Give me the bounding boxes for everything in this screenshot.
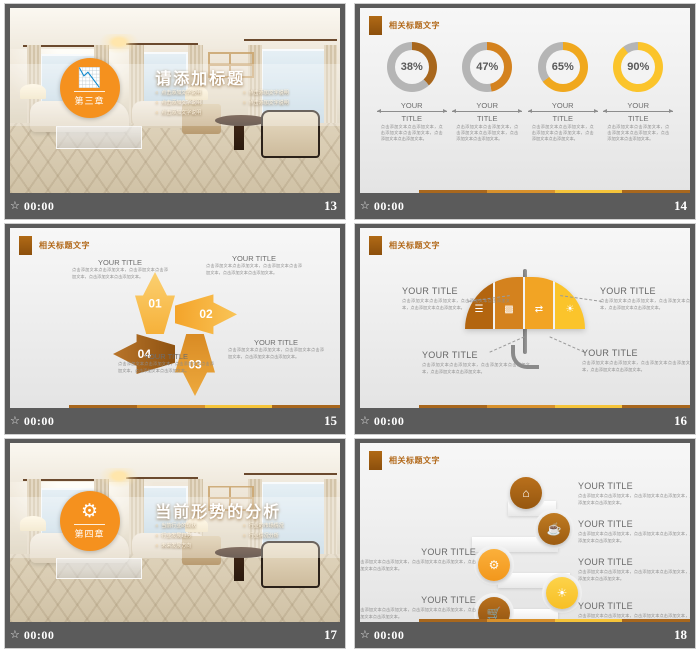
donut-value: 38% xyxy=(387,42,437,92)
slide-card-17[interactable]: ⚙ 第四章 当前形势的分析 当前行业的现状 行业的市场情况 行业发展趋势 行业情… xyxy=(4,438,346,649)
slide-footer: ☆ 00:00 18 xyxy=(355,622,695,648)
caption-line-1: YOUR xyxy=(377,101,447,110)
label-title: YOUR TITLE xyxy=(422,350,530,360)
duration-text: 00:00 xyxy=(374,628,405,643)
label-body: 点击添加文本点击添加文本，点击添加文本点击添加文本，点击添加文本点击添加文本。 xyxy=(206,263,302,276)
page-title: 请添加标题 xyxy=(155,65,245,89)
label-body: 点击添加文本点击添加文本，点击添加文本点击添加文本，点击添加文本点击添加文本。 xyxy=(578,493,690,506)
header-title: 相关标题文字 xyxy=(389,240,440,251)
pinwheel-label-04: YOUR TITLE 点击添加文本点击添加文本，点击添加文本点击添加文本，点击添… xyxy=(228,338,324,360)
duration-text: 00:00 xyxy=(374,199,405,214)
donut-item: 90% YOUR TITLE 点击添加文本点击添加文本，点击添加文本点击添加文本… xyxy=(603,42,673,143)
pinwheel-label-03: YOUR TITLE 点击添加文本点击添加文本，点击添加文本点击添加文本，点击添… xyxy=(118,352,214,374)
caption-line-1: YOUR xyxy=(452,101,522,110)
slide-canvas-14[interactable]: 相关标题文字 38% YOUR TITLE 点击添加文本点击添加文本，点击添加文… xyxy=(360,8,690,193)
caption-rule-icon xyxy=(452,111,522,112)
slide-cell-18: 相关标题文字 ⌂ ☕ ⚙ xyxy=(350,435,700,649)
flow-node-parachute[interactable]: ☕ xyxy=(538,513,570,545)
header-title: 相关标题文字 xyxy=(39,240,90,251)
donut-value: 90% xyxy=(613,42,663,92)
bottom-accent-bar xyxy=(360,405,690,408)
caption-line-1: YOUR xyxy=(528,101,598,110)
label-body: 点击添加文本点击添加文本，点击添加文本点击添加文本，点击添加文本点击添加文本。 xyxy=(582,360,690,373)
label-body: 点击添加文本点击添加文本，点击添加文本点击添加文本，点击添加文本点击添加文本。 xyxy=(402,298,510,311)
header-marker-icon xyxy=(369,236,382,255)
umbrella-panel-3: ⇄ xyxy=(525,277,555,329)
label-title: YOUR TITLE xyxy=(360,547,476,557)
page-title: 当前形势的分析 xyxy=(155,498,281,522)
caption-rule-icon xyxy=(377,111,447,112)
flow-node-lightbulb[interactable]: ☀ xyxy=(546,577,578,609)
list-item: 点击添加文字说明 xyxy=(243,89,321,96)
list-item: 当前行业的现状 xyxy=(155,522,233,529)
duration-text: 00:00 xyxy=(24,628,55,643)
chapter-badge: 📉 第三章 xyxy=(60,58,120,118)
duration-text: 00:00 xyxy=(24,414,55,429)
sun-gear-icon: ☀ xyxy=(566,305,575,315)
label-title: YOUR TITLE xyxy=(118,352,214,361)
donut-item: 38% YOUR TITLE 点击添加文本点击添加文本，点击添加文本点击添加文本… xyxy=(377,42,447,143)
list-item: 点击添加文字说明 xyxy=(155,109,233,116)
flow-node-home[interactable]: ⌂ xyxy=(510,477,542,509)
star-outline-icon[interactable]: ☆ xyxy=(360,416,370,427)
umbrella-panel-4: ☀ xyxy=(555,277,585,329)
donut-body: 点击添加文本点击添加文本，点击添加文本点击添加文本，点击添加文本点击添加文本。 xyxy=(377,124,447,143)
label-title: YOUR TITLE xyxy=(402,286,510,296)
label-title: YOUR TITLE xyxy=(582,348,690,358)
slide-canvas-15[interactable]: 相关标题文字 01 02 03 04 xyxy=(10,228,340,408)
lightbulb-icon: ☀ xyxy=(557,586,568,600)
caption-line-2: TITLE xyxy=(603,114,673,123)
shopping-cart-icon: 🛒 xyxy=(487,606,502,620)
slide-canvas-16[interactable]: 相关标题文字 ☰ ▩ ⇄ xyxy=(360,228,690,408)
page-number: 16 xyxy=(674,413,687,429)
donut-caption: YOUR TITLE xyxy=(528,101,598,124)
blade-number: 01 xyxy=(148,296,161,310)
slide-footer: ☆ 00:00 14 xyxy=(355,193,695,219)
flow-label-2: YOUR TITLE 点击添加文本点击添加文本，点击添加文本点击添加文本，点击添… xyxy=(578,519,690,544)
label-body: 点击添加文本点击添加文本，点击添加文本点击添加文本，点击添加文本点击添加文本。 xyxy=(72,267,168,280)
header-title: 相关标题文字 xyxy=(389,455,440,466)
chapter-label: 第三章 xyxy=(74,91,104,107)
bullet-list: 点击添加文字说明 点击添加文字说明 点击添加文字说明 点击添加文字说明 点击添加… xyxy=(155,89,320,116)
donut-caption: YOUR TITLE xyxy=(603,101,673,124)
list-item: 点击添加文字说明 xyxy=(155,89,233,96)
star-outline-icon[interactable]: ☆ xyxy=(10,630,20,641)
slide-header: 相关标题文字 xyxy=(369,236,440,255)
umbrella-label-3: YOUR TITLE 点击添加文本点击添加文本，点击添加文本点击添加文本，点击添… xyxy=(422,350,530,375)
label-title: YOUR TITLE xyxy=(600,286,690,296)
chapter-badge: ⚙ 第四章 xyxy=(60,491,120,551)
umbrella-label-1: YOUR TITLE 点击添加文本点击添加文本，点击添加文本点击添加文本，点击添… xyxy=(402,286,510,311)
header-title: 相关标题文字 xyxy=(389,20,440,31)
donut-body: 点击添加文本点击添加文本，点击添加文本点击添加文本，点击添加文本点击添加文本。 xyxy=(603,124,673,143)
umbrella-label-2: YOUR TITLE 点击添加文本点击添加文本，点击添加文本点击添加文本，点击添… xyxy=(600,286,690,311)
slide-footer: ☆ 00:00 16 xyxy=(355,408,695,434)
label-title: YOUR TITLE xyxy=(206,254,302,263)
slide-footer: ☆ 00:00 17 xyxy=(5,622,345,648)
gear-person-icon: ⚙ xyxy=(81,502,98,521)
pinwheel-label-01: YOUR TITLE 点击添加文本点击添加文本，点击添加文本点击添加文本，点击添… xyxy=(72,258,168,280)
header-marker-icon xyxy=(19,236,32,255)
donut-item: 65% YOUR TITLE 点击添加文本点击添加文本，点击添加文本点击添加文本… xyxy=(528,42,598,143)
slide-header: 相关标题文字 xyxy=(369,451,440,470)
page-number: 13 xyxy=(324,198,337,214)
list-item: 点击添加文字说明 xyxy=(155,99,233,106)
donut-body: 点击添加文本点击添加文本，点击添加文本点击添加文本，点击添加文本点击添加文本。 xyxy=(528,124,598,143)
slide-canvas-17[interactable]: ⚙ 第四章 当前形势的分析 当前行业的现状 行业的市场情况 行业发展趋势 行业情… xyxy=(10,443,340,622)
bottom-accent-bar xyxy=(360,190,690,193)
list-item: 点击添加文字说明 xyxy=(243,99,321,106)
caption-line-1: YOUR xyxy=(603,101,673,110)
slide-card-15[interactable]: 相关标题文字 01 02 03 04 xyxy=(4,223,346,435)
label-title: YOUR TITLE xyxy=(228,338,324,347)
bottom-accent-bar xyxy=(360,619,690,622)
gears-icon: ⚙ xyxy=(489,558,500,572)
slide-cell-15: 相关标题文字 01 02 03 04 xyxy=(0,220,350,435)
star-outline-icon[interactable]: ☆ xyxy=(360,630,370,641)
slide-cell-17: ⚙ 第四章 当前形势的分析 当前行业的现状 行业的市场情况 行业发展趋势 行业情… xyxy=(0,435,350,649)
pinwheel-label-02: YOUR TITLE 点击添加文本点击添加文本，点击添加文本点击添加文本，点击添… xyxy=(206,254,302,276)
pinwheel-blade-02: 02 xyxy=(175,294,237,334)
bullet-list: 当前行业的现状 行业的市场情况 行业发展趋势 行业情况分析 未来发展方向 xyxy=(155,522,320,549)
caption-rule-icon xyxy=(528,111,598,112)
donut-ring: 65% xyxy=(538,42,588,92)
flow-node-gears[interactable]: ⚙ xyxy=(478,549,510,581)
list-item: 行业发展趋势 xyxy=(155,532,233,539)
label-title: YOUR TITLE xyxy=(72,258,168,267)
slide-header: 相关标题文字 xyxy=(19,236,90,255)
flow-label-5: YOUR TITLE 点击添加文本点击添加文本，点击添加文本点击添加文本，点击添… xyxy=(360,595,476,620)
donut-chart-row: 38% YOUR TITLE 点击添加文本点击添加文本，点击添加文本点击添加文本… xyxy=(360,42,690,143)
parachute-icon: ☕ xyxy=(547,522,562,536)
home-icon: ⌂ xyxy=(522,486,529,500)
label-body: 点击添加文本点击添加文本，点击添加文本点击添加文本，点击添加文本点击添加文本。 xyxy=(578,569,690,582)
slide-footer: ☆ 00:00 13 xyxy=(5,193,345,219)
bottom-accent-bar xyxy=(10,405,340,408)
slide-cell-13: 📉 第三章 请添加标题 点击添加文字说明 点击添加文字说明 点击添加文字说明 点… xyxy=(0,0,350,220)
label-title: YOUR TITLE xyxy=(578,519,690,529)
list-item: 未来发展方向 xyxy=(155,542,233,549)
slide-card-14[interactable]: 相关标题文字 38% YOUR TITLE 点击添加文本点击添加文本，点击添加文… xyxy=(354,3,696,220)
label-title: YOUR TITLE xyxy=(360,595,476,605)
donut-caption: YOUR TITLE xyxy=(377,101,447,124)
list-item: 行业情况分析 xyxy=(243,532,321,539)
slide-canvas-13[interactable]: 📉 第三章 请添加标题 点击添加文字说明 点击添加文字说明 点击添加文字说明 点… xyxy=(10,8,340,193)
donut-item: 47% YOUR TITLE 点击添加文本点击添加文本，点击添加文本点击添加文本… xyxy=(452,42,522,143)
caption-rule-icon xyxy=(603,111,673,112)
list-item: 行业的市场情况 xyxy=(243,522,321,529)
caption-line-2: TITLE xyxy=(528,114,598,123)
label-title: YOUR TITLE xyxy=(578,601,690,611)
slide-card-18[interactable]: 相关标题文字 ⌂ ☕ ⚙ xyxy=(354,438,696,649)
page-number: 18 xyxy=(674,627,687,643)
star-outline-icon[interactable]: ☆ xyxy=(10,416,20,427)
flow-label-4: YOUR TITLE 点击添加文本点击添加文本，点击添加文本点击添加文本，点击添… xyxy=(578,557,690,582)
slide-cell-16: 相关标题文字 ☰ ▩ ⇄ xyxy=(350,220,700,435)
duration-text: 00:00 xyxy=(374,414,405,429)
slide-cell-14: 相关标题文字 38% YOUR TITLE 点击添加文本点击添加文本，点击添加文… xyxy=(350,0,700,220)
slide-card-16[interactable]: 相关标题文字 ☰ ▩ ⇄ xyxy=(354,223,696,435)
donut-value: 65% xyxy=(538,42,588,92)
pinwheel-blade-01: 01 xyxy=(135,272,175,334)
umbrella-label-4: YOUR TITLE 点击添加文本点击添加文本，点击添加文本点击添加文本，点击添… xyxy=(582,348,690,373)
donut-body: 点击添加文本点击添加文本，点击添加文本点击添加文本，点击添加文本点击添加文本。 xyxy=(452,124,522,143)
chart-down-icon: 📉 xyxy=(78,69,102,88)
flow-diagram: ⌂ ☕ ⚙ ☀ 🛒 💬 xyxy=(360,469,690,610)
label-body: 点击添加文本点击添加文本，点击添加文本点击添加文本，点击添加文本点击添加文本。 xyxy=(422,362,530,375)
label-title: YOUR TITLE xyxy=(578,557,690,567)
slide-thumbnail-grid: 📉 第三章 请添加标题 点击添加文字说明 点击添加文字说明 点击添加文字说明 点… xyxy=(0,0,700,649)
donut-ring: 90% xyxy=(613,42,663,92)
slide-canvas-18[interactable]: 相关标题文字 ⌂ ☕ ⚙ xyxy=(360,443,690,622)
header-marker-icon xyxy=(369,451,382,470)
slide-header: 相关标题文字 xyxy=(369,16,440,35)
label-body: 点击添加文本点击添加文本，点击添加文本点击添加文本，点击添加文本点击添加文本。 xyxy=(578,531,690,544)
label-title: YOUR TITLE xyxy=(578,481,690,491)
slide-card-13[interactable]: 📉 第三章 请添加标题 点击添加文字说明 点击添加文字说明 点击添加文字说明 点… xyxy=(4,3,346,220)
blade-number: 02 xyxy=(199,307,212,321)
duration-text: 00:00 xyxy=(24,199,55,214)
label-body: 点击添加文本点击添加文本，点击添加文本点击添加文本，点击添加文本点击添加文本。 xyxy=(600,298,690,311)
flow-label-3: YOUR TITLE 点击添加文本点击添加文本，点击添加文本点击添加文本，点击添… xyxy=(360,547,476,572)
page-number: 17 xyxy=(324,627,337,643)
donut-caption: YOUR TITLE xyxy=(452,101,522,124)
donut-value: 47% xyxy=(462,42,512,92)
flow-label-1: YOUR TITLE 点击添加文本点击添加文本，点击添加文本点击添加文本，点击添… xyxy=(578,481,690,506)
donut-ring: 47% xyxy=(462,42,512,92)
star-outline-icon[interactable]: ☆ xyxy=(10,201,20,212)
label-body: 点击添加文本点击添加文本，点击添加文本点击添加文本，点击添加文本点击添加文本。 xyxy=(118,361,214,374)
page-number: 14 xyxy=(674,198,687,214)
chapter-label: 第四章 xyxy=(74,524,104,540)
label-body: 点击添加文本点击添加文本，点击添加文本点击添加文本，点击添加文本点击添加文本。 xyxy=(228,347,324,360)
donut-ring: 38% xyxy=(387,42,437,92)
label-body: 点击添加文本点击添加文本，点击添加文本点击添加文本，点击添加文本点击添加文本。 xyxy=(360,559,476,572)
caption-line-2: TITLE xyxy=(377,114,447,123)
page-number: 15 xyxy=(324,413,337,429)
caption-line-2: TITLE xyxy=(452,114,522,123)
header-marker-icon xyxy=(369,16,382,35)
slide-footer: ☆ 00:00 15 xyxy=(5,408,345,434)
shuffle-icon: ⇄ xyxy=(535,305,543,315)
star-outline-icon[interactable]: ☆ xyxy=(360,201,370,212)
